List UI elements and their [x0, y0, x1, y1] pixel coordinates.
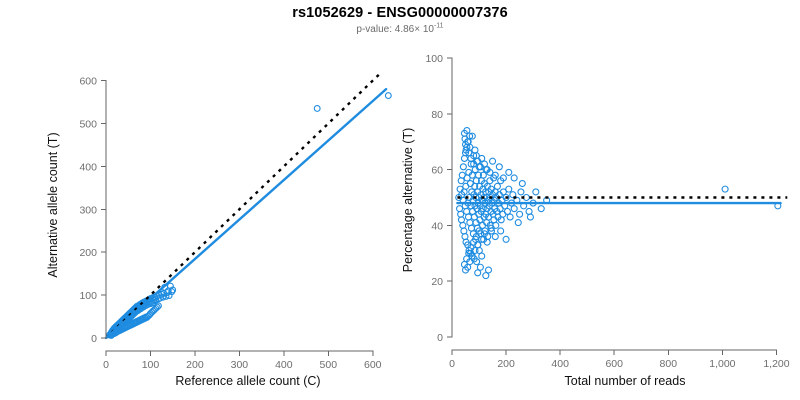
- data-point: [503, 236, 509, 242]
- y-tick-label: 400: [79, 161, 97, 173]
- data-point: [458, 178, 464, 184]
- y-tick-label: 300: [79, 204, 97, 216]
- right-y-axis-title: Percentage alternative (T): [401, 128, 415, 273]
- title-block: rs1052629 - ENSG00000007376 p-value: 4.8…: [0, 4, 800, 37]
- data-point: [518, 189, 524, 195]
- right-panel: 020406080100 02004006008001,0001,200 Per…: [401, 53, 790, 388]
- y-tick-label: 80: [431, 109, 443, 121]
- left-y-axis-line: [101, 81, 106, 338]
- data-point: [496, 164, 502, 170]
- p-value-text: p-value: 4.86× 10: [356, 24, 434, 35]
- y-tick-label: 0: [91, 333, 97, 345]
- data-point: [486, 267, 492, 273]
- figure-root: rs1052629 - ENSG00000007376 p-value: 4.8…: [0, 0, 800, 400]
- x-tick-label: 1,200: [763, 358, 789, 370]
- scatter-plot-panels: 0100200300400500600 0100200300400500600 …: [0, 0, 800, 400]
- left-x-tick-labels: 0100200300400500600: [103, 359, 382, 371]
- data-point: [385, 93, 391, 99]
- data-point: [519, 181, 525, 187]
- data-point: [460, 164, 466, 170]
- y-tick-label: 100: [79, 290, 97, 302]
- data-point: [467, 181, 473, 187]
- y-tick-label: 40: [431, 220, 443, 232]
- left-x-axis-line: [106, 351, 373, 356]
- data-point: [479, 253, 485, 259]
- y-tick-label: 500: [79, 118, 97, 130]
- regression-trend-line: [106, 89, 386, 338]
- data-point: [458, 211, 464, 217]
- y-tick-label: 100: [425, 53, 443, 65]
- x-tick-label: 800: [660, 358, 678, 370]
- right-x-tick-labels: 02004006008001,0001,200: [449, 358, 790, 370]
- data-point: [517, 211, 523, 217]
- x-tick-label: 0: [103, 359, 109, 371]
- right-y-axis-line: [447, 58, 452, 337]
- p-value-exponent: -11: [434, 23, 444, 30]
- x-tick-label: 200: [497, 358, 515, 370]
- left-y-tick-labels: 0100200300400500600: [79, 76, 97, 345]
- data-point: [506, 186, 512, 192]
- data-point: [515, 220, 521, 226]
- p-value-subtitle: p-value: 4.86× 10-11: [0, 23, 800, 37]
- x-tick-label: 400: [551, 358, 569, 370]
- data-point: [462, 234, 468, 240]
- data-point: [533, 189, 539, 195]
- data-point: [472, 147, 478, 153]
- y-tick-label: 0: [437, 332, 443, 344]
- x-tick-label: 400: [275, 359, 293, 371]
- data-point: [490, 158, 496, 164]
- x-tick-label: 1,000: [709, 358, 735, 370]
- data-point: [498, 228, 504, 234]
- data-point: [461, 155, 467, 161]
- data-point: [492, 234, 498, 240]
- data-point: [507, 214, 513, 220]
- identity-reference-line: [106, 72, 382, 338]
- page-title: rs1052629 - ENSG00000007376: [0, 4, 800, 22]
- right-x-axis-line: [452, 350, 776, 355]
- data-point: [506, 169, 512, 175]
- data-point: [458, 217, 464, 223]
- y-tick-label: 200: [79, 247, 97, 259]
- data-point: [460, 222, 466, 228]
- left-y-axis-title: Alternative allele count (T): [46, 132, 60, 277]
- x-tick-label: 600: [605, 358, 623, 370]
- data-point: [314, 106, 320, 112]
- x-tick-label: 200: [186, 359, 204, 371]
- data-point: [526, 208, 532, 214]
- x-tick-label: 500: [320, 359, 338, 371]
- data-point: [511, 175, 517, 181]
- left-points-layer: [107, 93, 392, 339]
- data-point: [511, 206, 517, 212]
- x-tick-label: 100: [142, 359, 160, 371]
- y-tick-label: 60: [431, 165, 443, 177]
- right-x-axis-title: Total number of reads: [565, 374, 686, 388]
- y-tick-label: 20: [431, 276, 443, 288]
- left-x-axis-title: Reference allele count (C): [175, 374, 320, 388]
- data-point: [538, 206, 544, 212]
- x-tick-label: 0: [449, 358, 455, 370]
- left-panel: 0100200300400500600 0100200300400500600 …: [46, 72, 391, 388]
- data-point: [461, 228, 467, 234]
- y-tick-label: 600: [79, 76, 97, 88]
- data-point: [477, 264, 483, 270]
- data-point: [465, 214, 471, 220]
- data-point: [494, 183, 500, 189]
- data-point: [527, 214, 533, 220]
- x-tick-label: 300: [231, 359, 249, 371]
- right-y-tick-labels: 020406080100: [425, 53, 443, 344]
- data-point: [722, 186, 728, 192]
- data-point: [457, 206, 463, 212]
- x-tick-label: 600: [364, 359, 382, 371]
